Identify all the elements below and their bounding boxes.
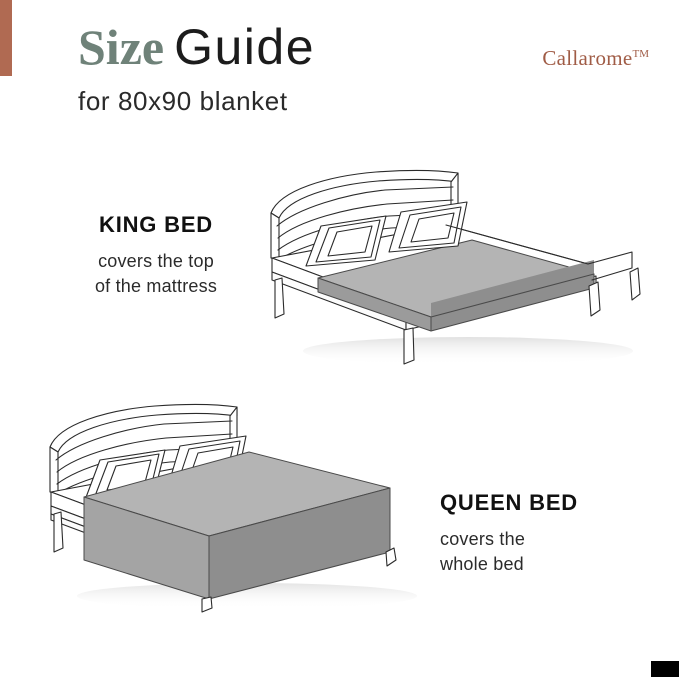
page-header: SizeGuide for 80x90 blanket — [78, 22, 658, 132]
corner-mark — [651, 661, 679, 677]
page-subtitle: for 80x90 blanket — [78, 86, 658, 117]
queen-bed-line-2: whole bed — [440, 554, 670, 575]
queen-bed-title: QUEEN BED — [440, 490, 670, 516]
brand-wordmark: CallaromeTM — [542, 46, 649, 71]
left-accent-bar — [0, 0, 12, 76]
king-bed-title: KING BED — [20, 212, 292, 238]
queen-bed-caption: QUEEN BED covers the whole bed — [440, 490, 670, 575]
queen-bed-illustration — [42, 400, 442, 615]
trademark-symbol: TM — [633, 48, 650, 60]
king-bed-line-1: covers the top — [20, 251, 292, 272]
page-title-plain-word: Guide — [174, 19, 315, 75]
page-title-accent-word: Size — [78, 19, 164, 75]
size-guide-infographic: SizeGuide for 80x90 blanket CallaromeTM — [0, 0, 679, 679]
king-bed-illustration — [258, 168, 658, 378]
king-bed-line-2: of the mattress — [20, 276, 292, 297]
brand-name: Callarome — [542, 46, 632, 70]
king-bed-caption: KING BED covers the top of the mattress — [20, 212, 292, 297]
queen-bed-line-1: covers the — [440, 529, 670, 550]
